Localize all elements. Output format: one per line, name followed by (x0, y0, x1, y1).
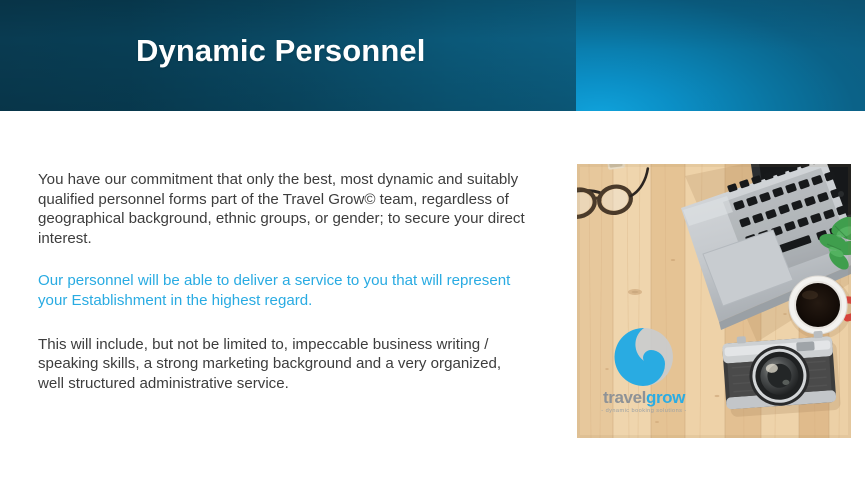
paragraph-service-highlight: Our personnel will be able to deliver a … (38, 271, 528, 310)
vintage-camera-object (722, 330, 841, 418)
header-right-panel (576, 0, 865, 111)
body-text-block: You have our commitment that only the be… (38, 170, 528, 393)
paragraph-spacer-2 (38, 311, 528, 335)
paragraph-commitment: You have our commitment that only the be… (38, 170, 528, 248)
slide-title: Dynamic Personnel (136, 33, 425, 69)
desk-flatlay-photo (577, 164, 851, 438)
slide: Dynamic Personnel You have our commitmen… (0, 0, 865, 485)
paragraph-spacer-1 (38, 248, 528, 271)
header-banner: Dynamic Personnel (0, 0, 865, 111)
paragraph-skills: This will include, but not be limited to… (38, 335, 528, 394)
coffee-cup-object (788, 276, 851, 339)
